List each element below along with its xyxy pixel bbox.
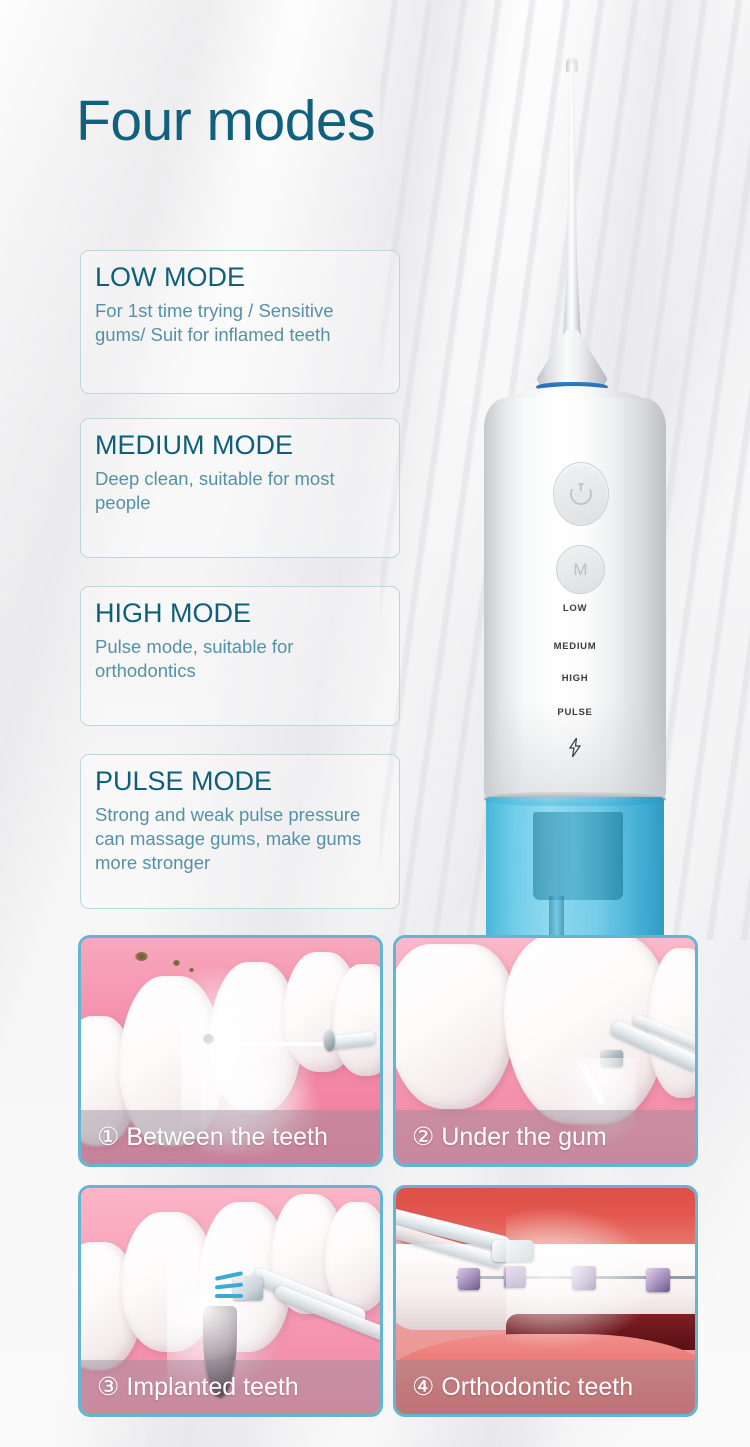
photo-caption: ③ Implanted teeth	[97, 1372, 299, 1402]
page-title: Four modes	[76, 88, 375, 154]
mode-card-title: HIGH MODE	[95, 599, 385, 628]
mode-card-high: HIGH MODE Pulse mode, suitable for ortho…	[80, 586, 400, 726]
mode-card-title: MEDIUM MODE	[95, 431, 385, 460]
device-indicator-low: LOW	[484, 603, 666, 614]
mode-card-medium: MEDIUM MODE Deep clean, suitable for mos…	[80, 418, 400, 558]
water-tank-intake-tube	[549, 896, 564, 940]
lightning-bolt-icon	[484, 738, 666, 757]
device-indicator-high: HIGH	[484, 673, 666, 684]
photo-caption: ④ Orthodontic teeth	[412, 1372, 633, 1402]
photo-caption-band: ③ Implanted teeth	[81, 1360, 380, 1414]
mode-card-description: Deep clean, suitable for most people	[95, 467, 385, 514]
mode-card-description: Pulse mode, suitable for orthodontics	[95, 635, 385, 682]
photo-caption: ② Under the gum	[412, 1122, 607, 1152]
usage-photo-implanted-teeth: ③ Implanted teeth	[78, 1185, 383, 1417]
device-indicator-medium: MEDIUM	[484, 641, 666, 652]
power-icon	[570, 483, 592, 505]
mode-card-description: Strong and weak pulse pressure can massa…	[95, 803, 385, 874]
nozzle-shaft	[563, 64, 581, 339]
mode-button-label: M	[557, 546, 604, 593]
mode-card-title: LOW MODE	[95, 263, 385, 292]
water-tank-pump-housing	[533, 812, 623, 900]
mode-card-description: For 1st time trying / Sensitive gums/ Su…	[95, 299, 385, 346]
usage-photo-orthodontic-teeth: ④ Orthodontic teeth	[393, 1185, 698, 1417]
usage-photo-under-gum: ② Under the gum	[393, 935, 698, 1167]
mode-card-pulse: PULSE MODE Strong and weak pulse pressur…	[80, 754, 400, 909]
device-indicator-pulse: PULSE	[484, 707, 666, 718]
mode-card-title: PULSE MODE	[95, 767, 385, 796]
nozzle-flare	[537, 330, 607, 386]
usage-photo-between-teeth: ① Between the teeth	[78, 935, 383, 1167]
photo-caption: ① Between the teeth	[97, 1122, 328, 1152]
photo-caption-band: ② Under the gum	[396, 1110, 695, 1164]
mode-card-low: LOW MODE For 1st time trying / Sensitive…	[80, 250, 400, 394]
photo-caption-band: ① Between the teeth	[81, 1110, 380, 1164]
mode-button[interactable]: M	[556, 545, 605, 594]
photo-caption-band: ④ Orthodontic teeth	[396, 1360, 695, 1414]
power-button[interactable]	[553, 462, 609, 526]
